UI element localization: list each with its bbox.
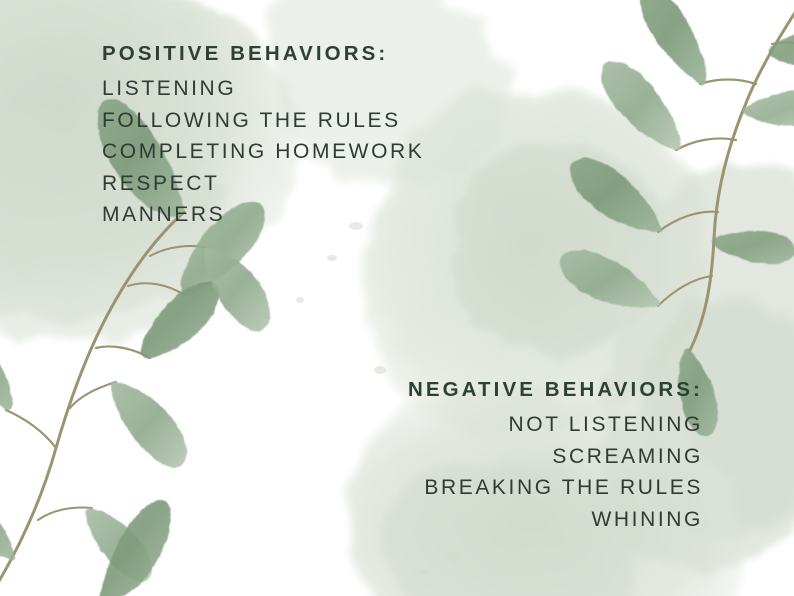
list-item: WHINING <box>408 504 703 536</box>
positive-behaviors-list: LISTENING FOLLOWING THE RULES COMPLETING… <box>102 73 424 231</box>
poster-canvas: POSITIVE BEHAVIORS: LISTENING FOLLOWING … <box>0 0 794 596</box>
positive-behaviors-block: POSITIVE BEHAVIORS: LISTENING FOLLOWING … <box>102 40 424 231</box>
negative-behaviors-block: NEGATIVE BEHAVIORS: NOT LISTENING SCREAM… <box>408 376 703 535</box>
list-item: COMPLETING HOMEWORK <box>102 136 424 168</box>
list-item: NOT LISTENING <box>408 409 703 441</box>
negative-behaviors-heading: NEGATIVE BEHAVIORS: <box>408 376 703 404</box>
list-item: SCREAMING <box>408 441 703 473</box>
positive-behaviors-heading: POSITIVE BEHAVIORS: <box>102 40 424 68</box>
list-item: LISTENING <box>102 73 424 105</box>
list-item: RESPECT <box>102 168 424 200</box>
list-item: FOLLOWING THE RULES <box>102 105 424 137</box>
list-item: MANNERS <box>102 199 424 231</box>
list-item: BREAKING THE RULES <box>408 472 703 504</box>
negative-behaviors-list: NOT LISTENING SCREAMING BREAKING THE RUL… <box>408 409 703 535</box>
botanical-vine-right <box>560 0 794 436</box>
